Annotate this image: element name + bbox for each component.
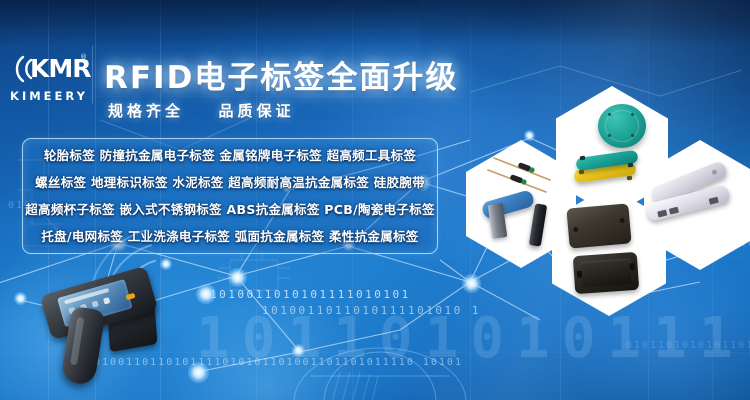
handheld-rfid-reader[interactable] [30,272,180,392]
dark-anti-metal-tag-top [566,203,631,248]
rfid-promo-banner: 1010011010101111010101 10100110110101111… [0,0,750,400]
binary-line-mid-right: 0101101010101101010101 [626,340,750,351]
binary-line-big: 1011010101111 [196,306,750,371]
subtitle-part-2: 品质保证 [218,102,294,120]
dark-anti-metal-tag-bottom [573,252,639,294]
product-row-2: 螺丝标签 地理标识标签 水泥标签 超高频耐高温抗金属标签 硅胶腕带 [23,169,437,196]
product-row-4: 托盘/电网标签 工业洗涤电子标签 弧面抗金属标签 柔性抗金属标签 [23,223,437,250]
binary-line-second: 1010011011010111101010 1 [262,304,481,317]
logo-mark: KMR ® [8,52,90,88]
page-subtitle: 规格齐全 品质保证 [108,100,295,121]
subtitle-part-1: 规格齐全 [108,102,184,120]
globe-circuit-icon [270,332,500,400]
logo-divider [92,46,93,104]
registered-icon: ® [80,53,87,61]
product-row-1: 轮胎标签 防撞抗金属电子标签 金属铭牌电子标签 超高频工具标签 [23,142,437,169]
brand-logo[interactable]: KMR ® KIMEERY [8,52,90,103]
teal-disc-tag [598,104,646,148]
page-title: RFID电子标签全面升级 [104,52,458,97]
product-row-3: 超高频杯子标签 嵌入式不锈钢标签 ABS抗金属标签 PCB/陶瓷电子标签 [23,196,437,223]
logo-brand-name: KIMEERY [8,89,90,103]
product-list-panel: 轮胎标签 防撞抗金属电子标签 金属铭牌电子标签 超高频工具标签 螺丝标签 地理标… [22,138,438,254]
signal-arcs-icon [8,52,90,86]
